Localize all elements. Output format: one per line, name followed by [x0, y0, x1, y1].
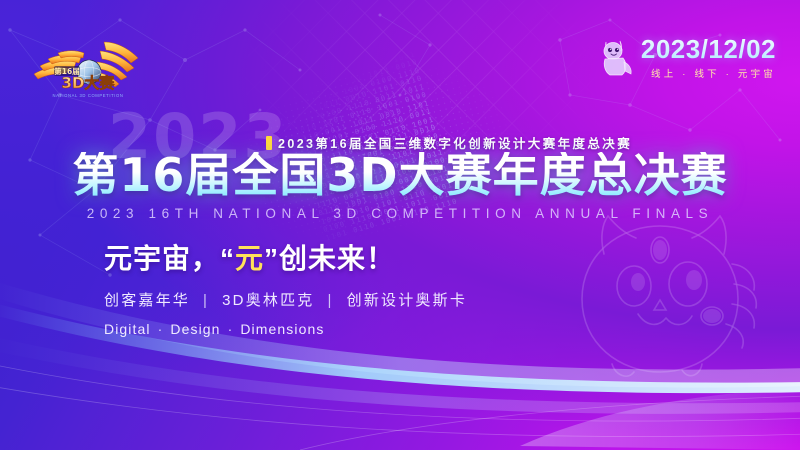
event-logo[interactable]: 第16届 3D大赛 NATIONAL 3D COMPETITION — [26, 28, 146, 102]
slogan-cn-item-3: 创新设计奥斯卡 — [347, 292, 467, 309]
event-date-subtitle: 线上 · 线下 · 元宇宙 — [651, 66, 776, 80]
page-title: 第16届全国3D大赛年度总决赛 — [0, 152, 800, 200]
slogan-en-item-2: Design — [170, 321, 220, 337]
slogan-main-before: 元宇宙，“ — [104, 243, 235, 274]
binary-code-decor: 0110 1001 0100 1110 0011 1011 0010 1101 … — [280, 0, 650, 262]
slogan-block: 元宇宙，“元”创未来！ 创客嘉年华|3D奥林匹克|创新设计奥斯卡 Digital… — [104, 245, 467, 337]
slogan-cn-sep-1: | — [203, 292, 209, 309]
svg-text:NATIONAL 3D COMPETITION: NATIONAL 3D COMPETITION — [52, 93, 123, 98]
svg-text:3D大赛: 3D大赛 — [62, 74, 116, 92]
page-title-english: 2023 16TH NATIONAL 3D COMPETITION ANNUAL… — [0, 206, 800, 221]
mascot-icon — [600, 38, 634, 78]
slogan-cn-list: 创客嘉年华|3D奥林匹克|创新设计奥斯卡 — [104, 289, 467, 310]
slogan-cn-sep-2: | — [328, 292, 334, 309]
slogan-en-sep-2: · — [228, 321, 234, 337]
slogan-cn-item-1: 创客嘉年华 — [104, 292, 190, 309]
slogan-main-highlight: 元 — [235, 243, 264, 274]
event-date: 2023/12/02 — [641, 36, 776, 62]
slogan-en-item-1: Digital — [104, 321, 151, 337]
slogan-en-list: Digital·Design·Dimensions — [104, 321, 467, 337]
slogan-main-after: ”创未来！ — [264, 243, 395, 274]
slogan-cn-item-2: 3D奥林匹克 — [222, 292, 314, 309]
slogan-main: 元宇宙，“元”创未来！ — [104, 245, 467, 273]
ghost-mascot-watermark — [542, 204, 772, 404]
event-poster: 0110 1001 0100 1110 0011 1011 0010 1101 … — [0, 0, 800, 450]
event-date-block: 2023/12/02 线上 · 线下 · 元宇宙 — [600, 36, 776, 80]
winged-3d-logo-icon: 第16届 3D大赛 NATIONAL 3D COMPETITION — [26, 28, 146, 102]
slogan-en-item-3: Dimensions — [240, 321, 324, 337]
slogan-en-sep-1: · — [158, 321, 164, 337]
